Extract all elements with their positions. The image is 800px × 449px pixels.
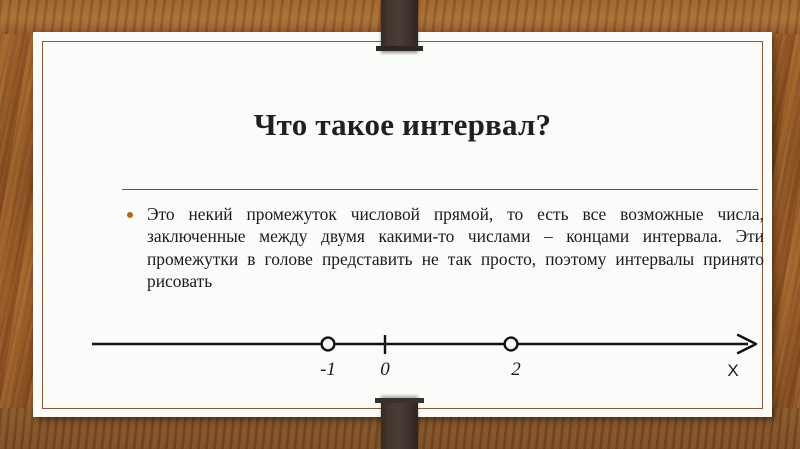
number-line-figure: -1 0 2 X — [88, 324, 768, 392]
list-item: Это некий промежуток числовой прямой, то… — [123, 203, 763, 292]
point-marker-minus-one — [322, 338, 335, 351]
tick-label-minus-one: -1 — [320, 359, 336, 380]
binder-clip-bottom — [381, 398, 418, 449]
binder-clip-top — [381, 0, 418, 51]
bullet-dot-icon — [127, 212, 133, 218]
page-title: Что такое интервал? — [75, 107, 730, 143]
point-marker-two — [505, 338, 518, 351]
tick-label-two: 2 — [511, 359, 521, 380]
body-content: Это некий промежуток числовой прямой, то… — [123, 203, 763, 292]
slide-card: Что такое интервал? Это некий промежуток… — [33, 32, 772, 417]
axis-name-label: X — [727, 361, 738, 380]
title-divider — [122, 189, 758, 190]
bullet-paragraph: Это некий промежуток числовой прямой, то… — [147, 203, 764, 292]
tick-label-zero: 0 — [380, 359, 390, 380]
slide-canvas: Что такое интервал? Это некий промежуток… — [0, 0, 800, 449]
